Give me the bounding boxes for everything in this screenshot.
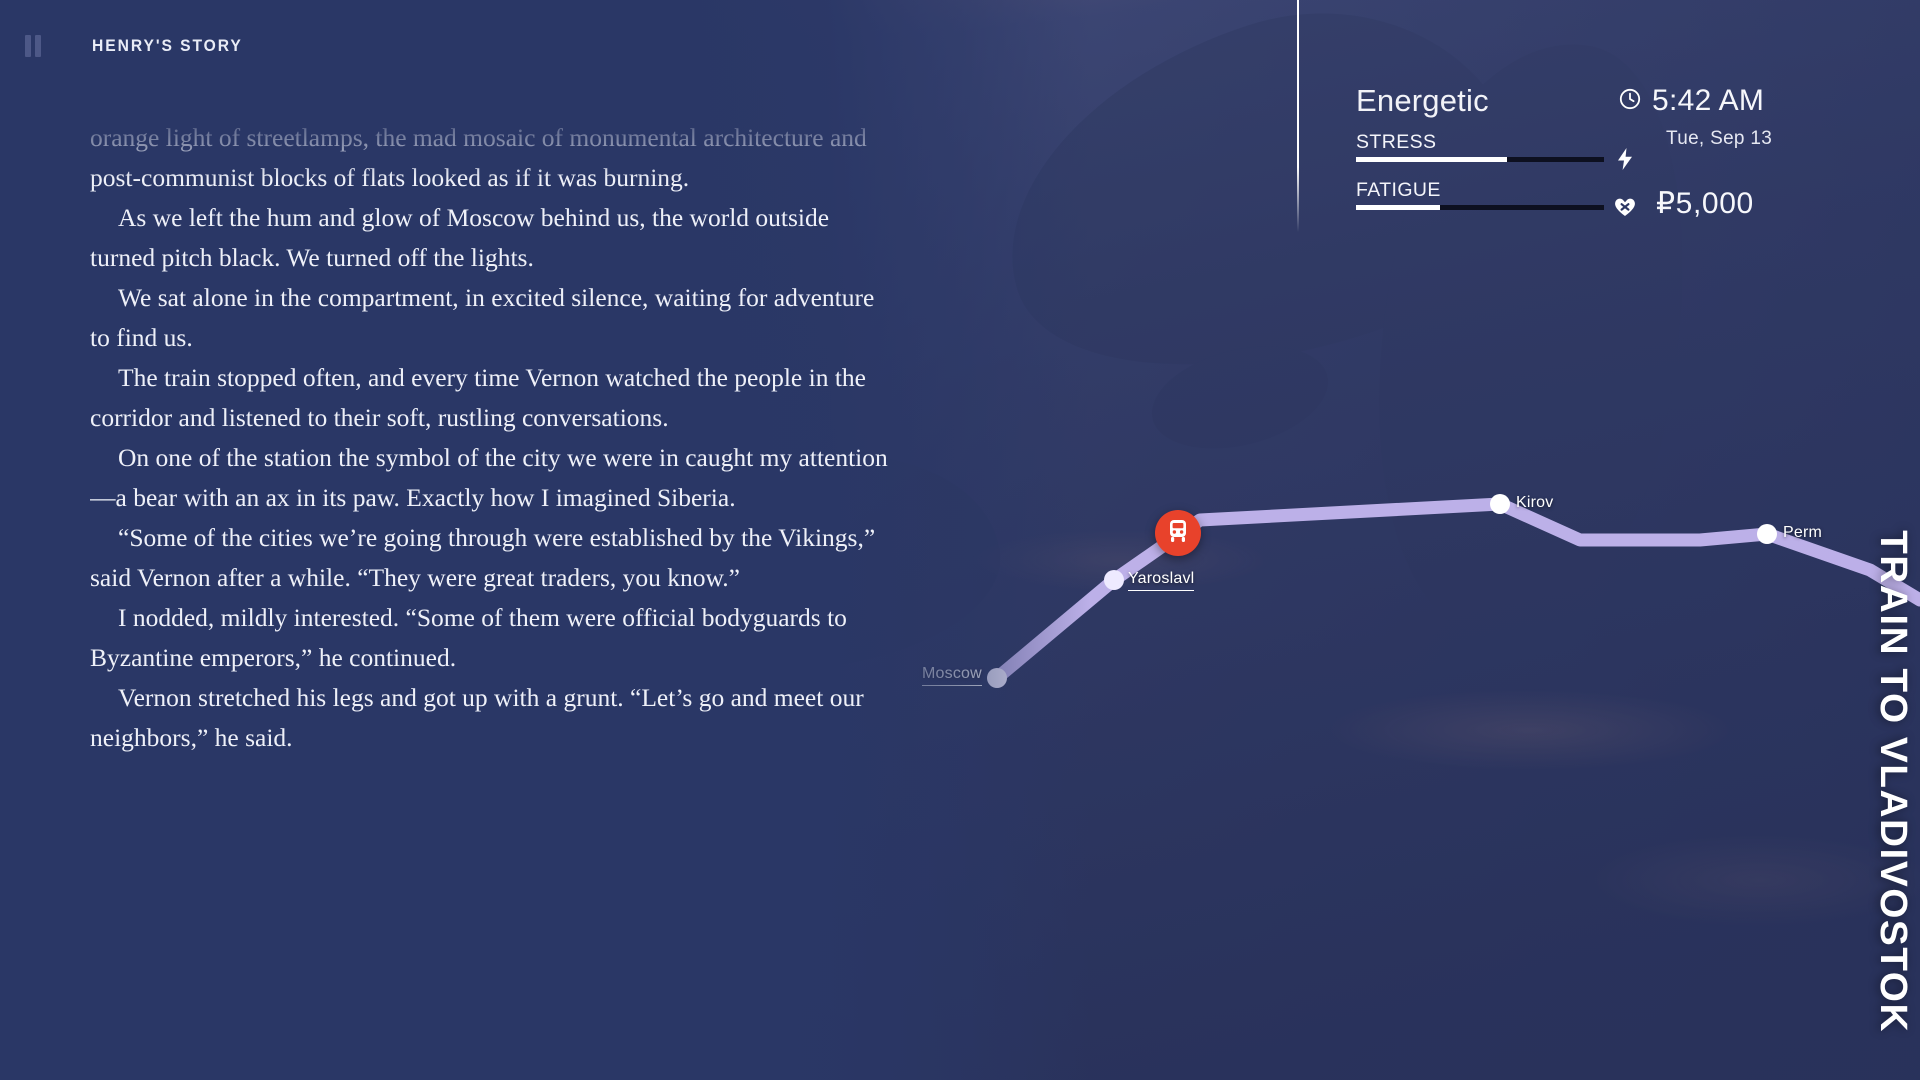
stat-fatigue: FATIGUE <box>1356 178 1614 210</box>
stat-track <box>1356 157 1604 162</box>
story-paragraph: As we left the hum and glow of Moscow be… <box>90 198 900 278</box>
stop-label-perm[interactable]: Perm <box>1783 524 1822 542</box>
clock-icon <box>1618 87 1642 116</box>
mood-status: Energetic <box>1356 84 1614 118</box>
train-icon <box>1167 519 1189 548</box>
destination-label: TRAIN TO VLADIVOSTOK <box>1871 530 1914 1033</box>
story-paragraph: The train stopped often, and every time … <box>90 358 900 438</box>
money-amount: ₽5,000 <box>1656 186 1908 221</box>
story-text: orange light of streetlamps, the mad mos… <box>90 118 900 758</box>
story-paragraph: On one of the station the symbol of the … <box>90 438 900 518</box>
stat-label: STRESS <box>1356 130 1614 154</box>
stat-stress: STRESS <box>1356 130 1614 162</box>
stop-dot[interactable] <box>1757 524 1777 544</box>
story-paragraph: orange light of streetlamps, the mad mos… <box>90 118 900 198</box>
story-paragraph: I nodded, mildly interested. “Some of th… <box>90 598 900 678</box>
stop-label-yaroslavl[interactable]: Yaroslavl <box>1128 570 1194 591</box>
hud-divider <box>1297 0 1299 232</box>
story-paragraph: Vernon stretched his legs and got up wit… <box>90 678 900 758</box>
stop-dot[interactable] <box>1490 494 1510 514</box>
story-paragraph: “Some of the cities we’re going through … <box>90 518 900 598</box>
page-title: HENRY'S STORY <box>92 36 243 56</box>
stat-fill <box>1356 205 1440 210</box>
clock-panel: 5:42 AM Tue, Sep 13 ₽5,000 <box>1618 84 1908 221</box>
train-marker[interactable] <box>1155 510 1201 556</box>
stat-label: FATIGUE <box>1356 178 1614 202</box>
stop-dot[interactable] <box>1104 570 1124 590</box>
clock-date: Tue, Sep 13 <box>1666 128 1908 150</box>
story-paragraph: We sat alone in the compartment, in exci… <box>90 278 900 358</box>
clock-time: 5:42 AM <box>1652 84 1764 118</box>
stop-label-kirov[interactable]: Kirov <box>1516 494 1553 512</box>
route-line <box>997 504 1920 678</box>
pause-icon[interactable] <box>16 29 50 63</box>
topbar: HENRY'S STORY <box>0 0 1090 92</box>
stat-track <box>1356 205 1604 210</box>
status-hud: Energetic STRESS FATIGUE <box>1356 84 1614 226</box>
stat-fill <box>1356 157 1507 162</box>
story-panel: HENRY'S STORY orange light of streetlamp… <box>0 0 1090 1080</box>
